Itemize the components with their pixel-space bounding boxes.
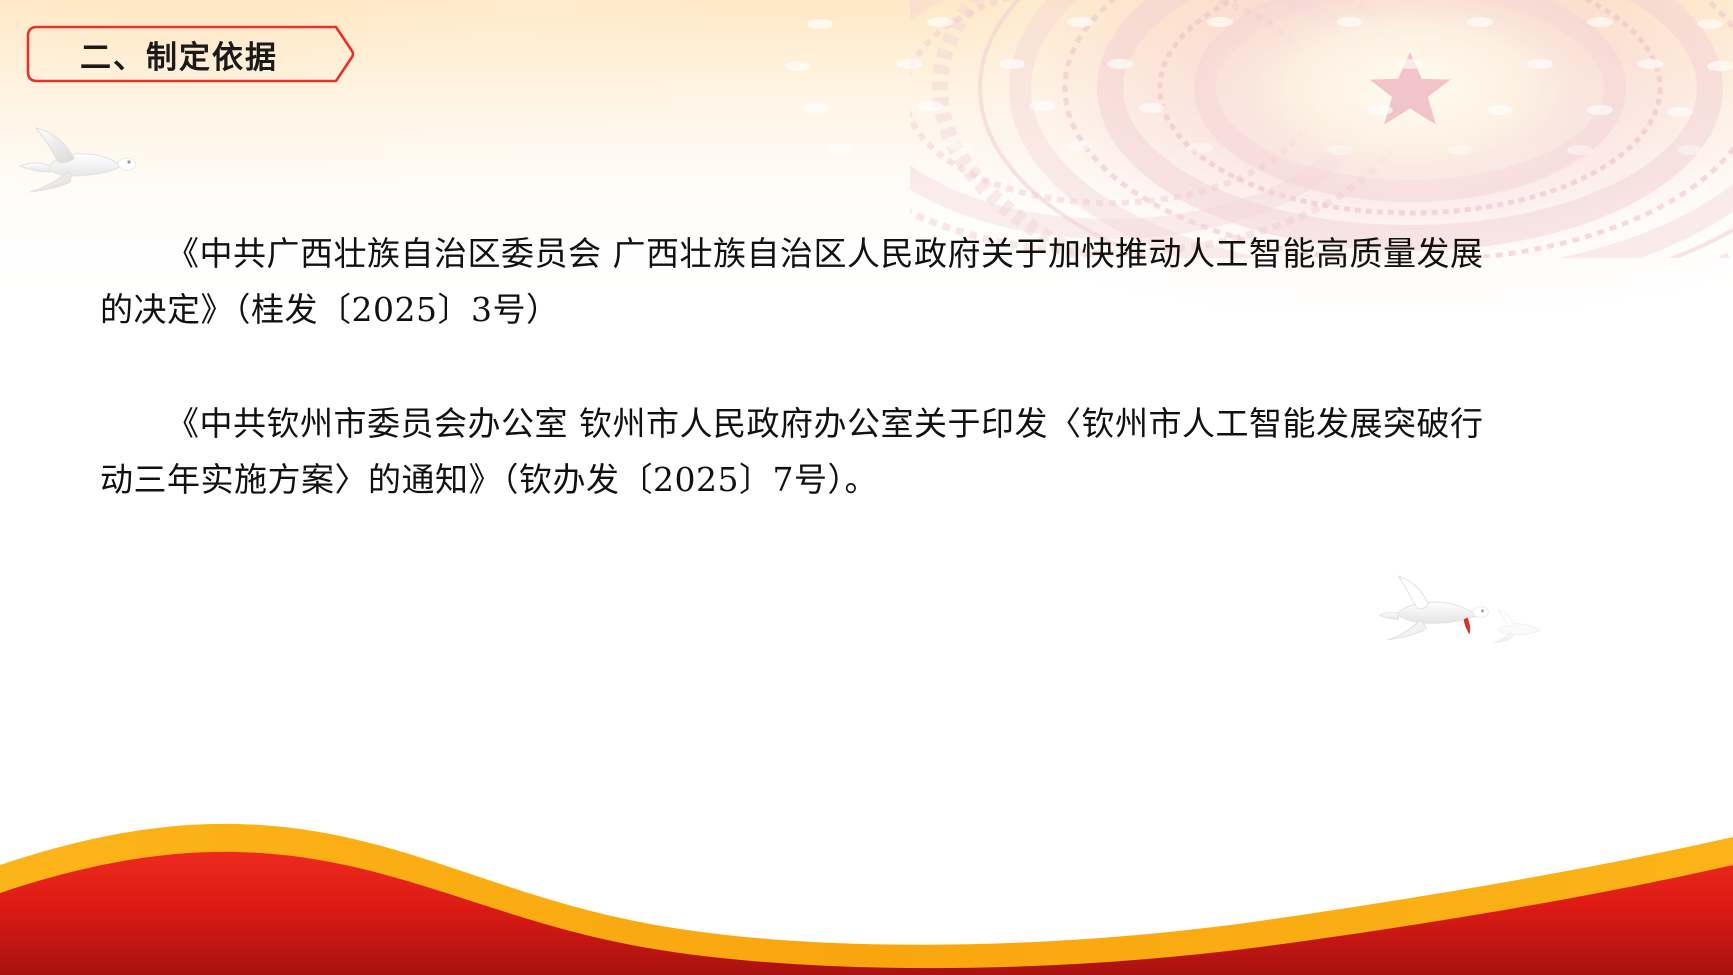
slide-canvas: 二、制定依据 《中共广西壮族自治区委员会 广西壮族自治区人民政府关于加快推动人工…: [0, 0, 1733, 975]
bottom-wave-decoration: [0, 725, 1733, 975]
dove-icon-top-left: [18, 122, 138, 200]
section-title-text: 二、制定依据: [18, 24, 356, 84]
dove-icon-bottom-right-small: [1488, 608, 1546, 646]
star-icon: [1370, 52, 1451, 125]
paragraph-1: 《中共广西壮族自治区委员会 广西壮族自治区人民政府关于加快推动人工智能高质量发展…: [100, 226, 1500, 338]
dove-icon-bottom-right: [1378, 572, 1490, 646]
body-text-block: 《中共广西壮族自治区委员会 广西壮族自治区人民政府关于加快推动人工智能高质量发展…: [100, 226, 1500, 508]
dot-pattern: [780, 0, 1733, 200]
section-title-badge: 二、制定依据: [18, 24, 356, 84]
paragraph-2: 《中共钦州市委员会办公室 钦州市人民政府办公室关于印发〈钦州市人工智能发展突破行…: [100, 396, 1500, 508]
